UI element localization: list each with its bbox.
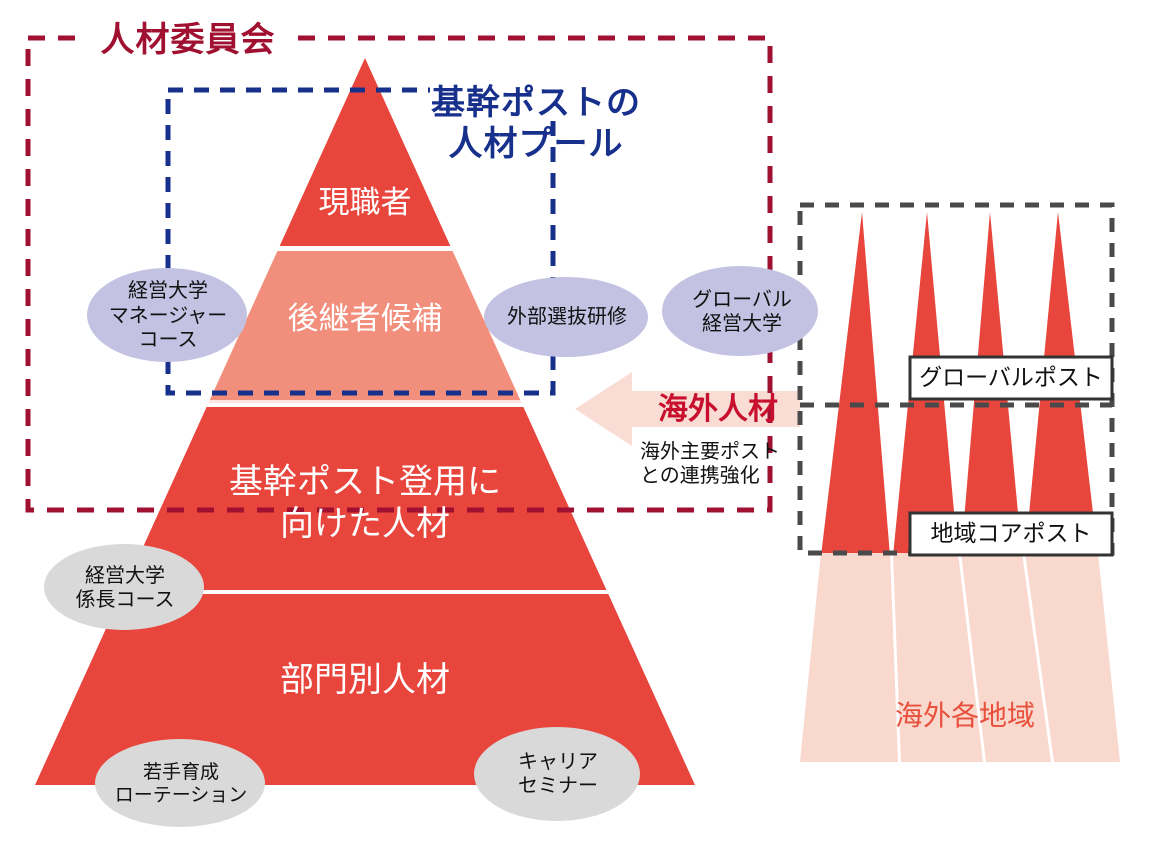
hr-committee-label-mask <box>82 20 292 58</box>
ellipse-external-selection-training[interactable] <box>484 277 648 357</box>
arrow-shape <box>575 372 800 446</box>
pyramid-divider-1 <box>0 246 1157 251</box>
ellipse-career-seminar[interactable] <box>474 727 640 821</box>
ellipse-global-management-university[interactable] <box>662 266 818 356</box>
ellipse-mgmt-univ-chief-course[interactable] <box>44 544 204 630</box>
diagram-canvas: 人材委員会 基幹ポストの 人材プール 現職者 後継者候補 基幹ポスト登用に 向け… <box>0 0 1157 852</box>
overseas-talent-arrow <box>575 372 800 446</box>
ellipse-young-talent-rotation[interactable] <box>95 739 265 827</box>
spike-1 <box>821 212 890 556</box>
diagram-vector-layer <box>0 0 1157 852</box>
global-post-box <box>910 357 1112 399</box>
talent-pool-label-mask <box>430 72 640 112</box>
overseas-regions-pale-shape <box>800 553 1120 762</box>
regional-core-post-box <box>910 513 1112 555</box>
ellipse-mgmt-univ-manager-course[interactable] <box>87 268 247 362</box>
pale-region-1 <box>800 553 898 762</box>
